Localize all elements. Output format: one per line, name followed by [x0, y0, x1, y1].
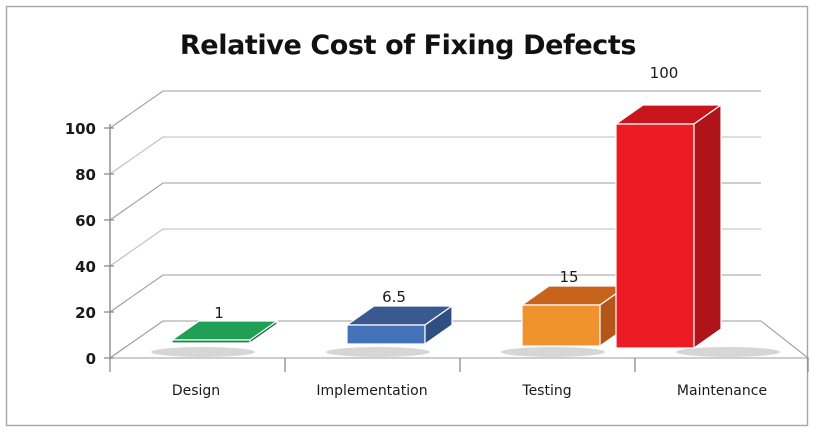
bar-front-maintenance	[616, 124, 694, 348]
y-axis: 100 80 60 40 20 0	[65, 120, 114, 368]
bar-front-implementation	[347, 325, 425, 344]
bar-side-maintenance	[694, 105, 721, 348]
bar-front-design	[172, 340, 250, 343]
value-label-testing: 15	[559, 268, 578, 286]
bar-shadow-implementation	[326, 347, 430, 357]
y-tick-label-0: 0	[86, 350, 96, 368]
category-label-implementation: Implementation	[316, 383, 427, 399]
value-label-maintenance: 100	[650, 64, 679, 82]
category-label-maintenance: Maintenance	[677, 383, 767, 399]
y-tick-label-80: 80	[75, 166, 96, 184]
bar-shadow-design	[151, 347, 255, 357]
y-tick-label-20: 20	[75, 304, 96, 322]
y-tick-label-100: 100	[65, 120, 96, 138]
relative-cost-bar-chart: Relative Cost of Fixing Defects 100 80 6…	[0, 0, 816, 438]
bar-maintenance[interactable]	[616, 105, 780, 357]
value-label-implementation: 6.5	[382, 288, 406, 306]
category-label-design: Design	[172, 383, 220, 399]
chart-frame: Relative Cost of Fixing Defects 100 80 6…	[0, 0, 816, 438]
chart-title: Relative Cost of Fixing Defects	[180, 30, 636, 61]
bar-front-testing	[522, 305, 600, 346]
x-axis-separators	[110, 358, 808, 372]
value-labels-group: 1 6.5 15 100	[214, 64, 678, 322]
y-tick-label-60: 60	[75, 212, 96, 230]
bar-shadow-testing	[501, 347, 605, 357]
y-tick-label-40: 40	[75, 258, 96, 276]
category-label-testing: Testing	[521, 383, 571, 399]
value-label-design: 1	[214, 304, 224, 322]
category-labels-group: Design Implementation Testing Maintenanc…	[172, 383, 767, 399]
